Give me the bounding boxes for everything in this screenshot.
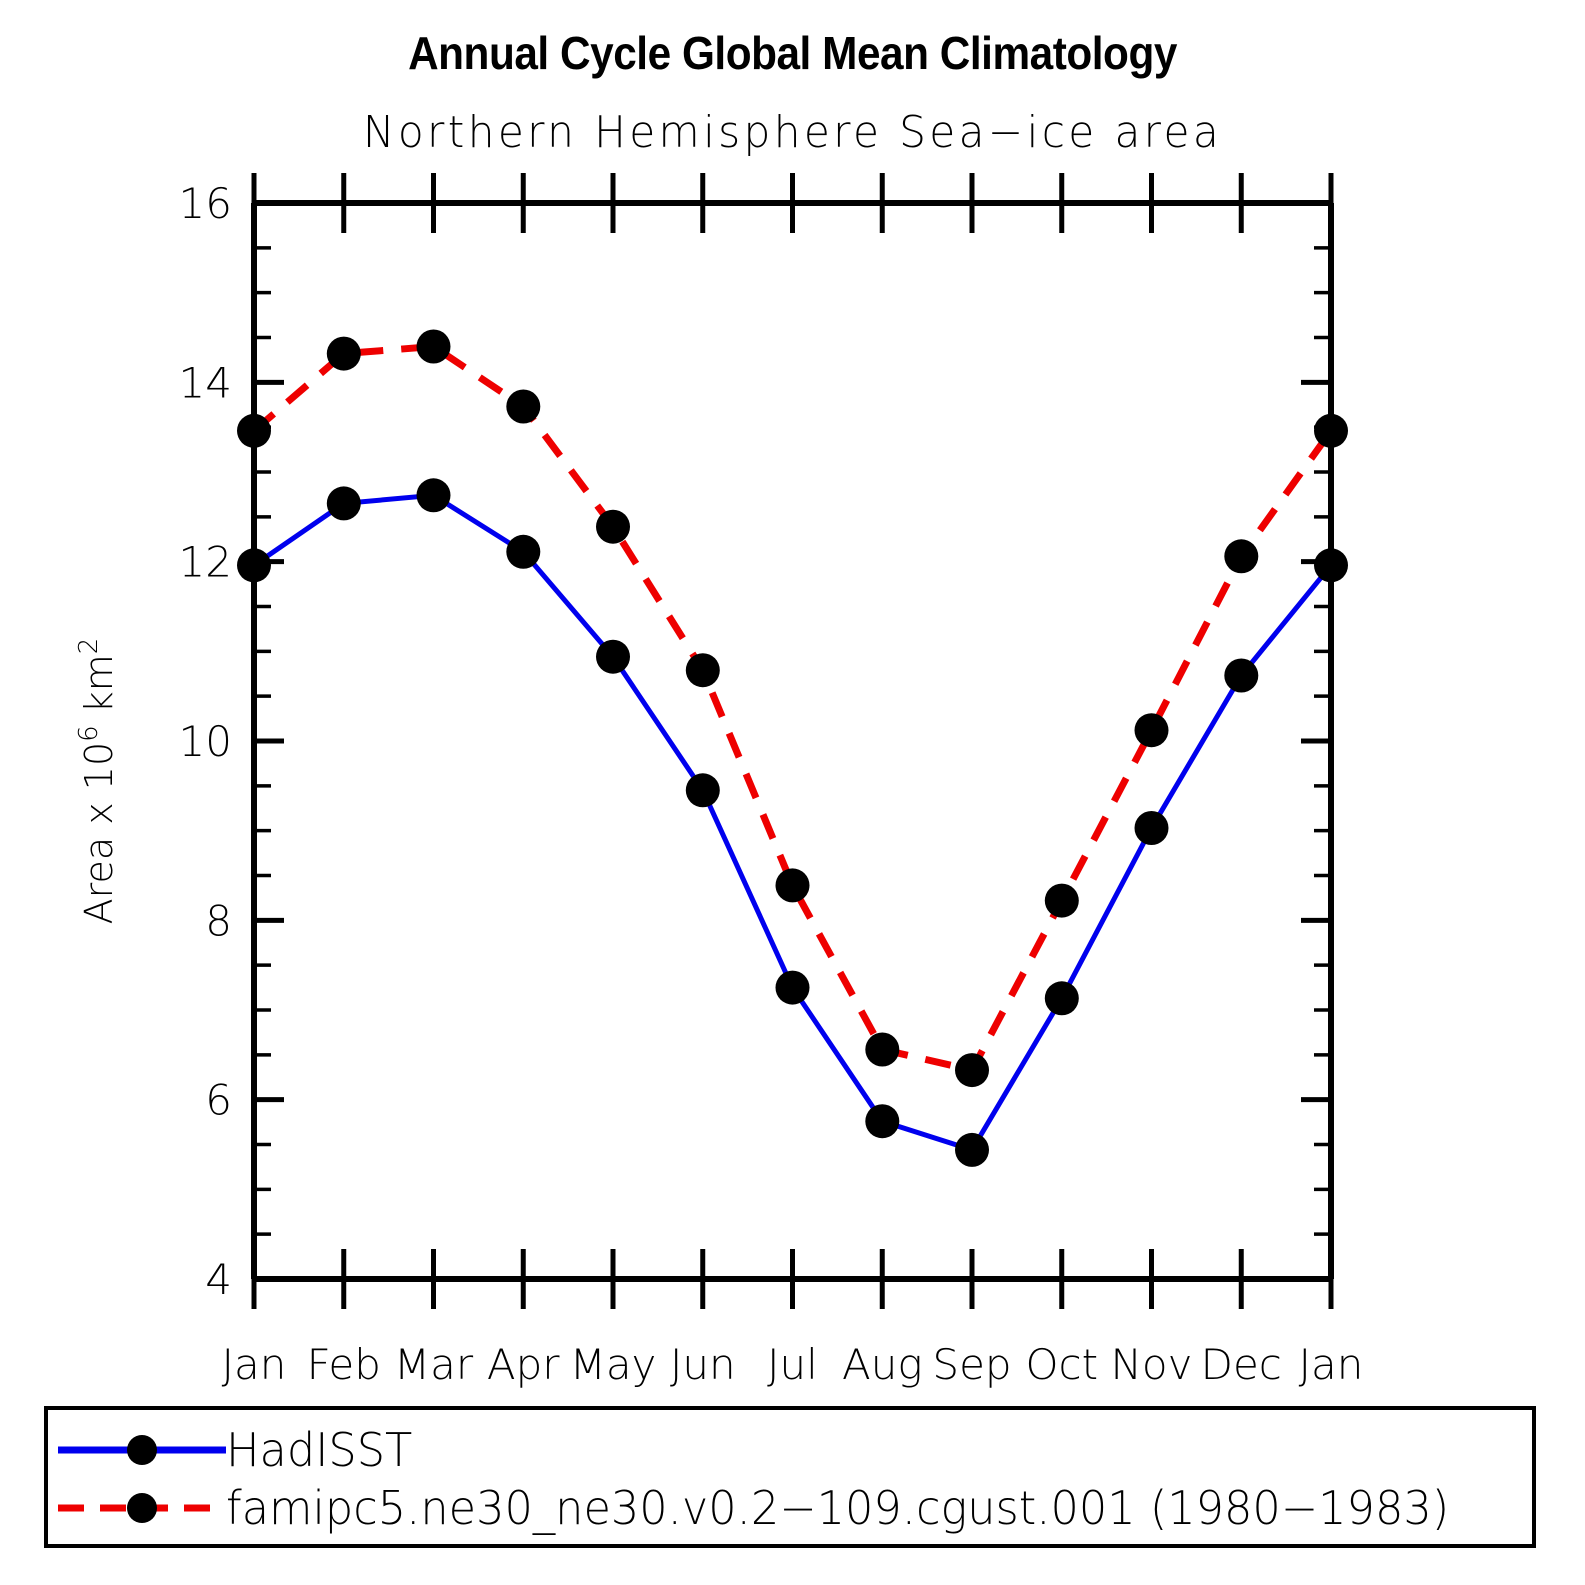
legend-label-hadisst: HadISST xyxy=(226,1427,412,1473)
data-point-series-2 xyxy=(327,337,361,371)
xtick-label: Apr xyxy=(487,1340,560,1389)
xtick-label: Aug xyxy=(842,1340,923,1389)
legend-label-famipc5: famipc5.ne30_ne30.v0.2−109.cgust.001 (19… xyxy=(226,1485,1449,1531)
ytick-label: 12 xyxy=(179,538,232,587)
legend-swatch-dashed-line xyxy=(58,1488,226,1528)
xtick-label: Feb xyxy=(307,1340,381,1389)
data-point-series-1 xyxy=(955,1133,989,1167)
data-point-series-2 xyxy=(1045,884,1079,918)
xtick-label: Sep xyxy=(932,1340,1011,1389)
data-point-series-1 xyxy=(237,548,271,582)
data-point-series-1 xyxy=(1045,981,1079,1015)
line-chart-plot: 46810121416JanFebMarAprMayJunJulAugSepOc… xyxy=(0,0,1585,1400)
xtick-label: Oct xyxy=(1025,1340,1098,1389)
data-point-series-1 xyxy=(865,1104,899,1138)
data-point-series-2 xyxy=(506,390,540,424)
data-point-series-1 xyxy=(686,773,720,807)
ytick-label: 6 xyxy=(205,1076,232,1125)
ytick-label: 14 xyxy=(179,358,232,407)
chart-page: Annual Cycle Global Mean Climatology Nor… xyxy=(0,0,1585,1585)
data-point-series-2 xyxy=(865,1033,899,1067)
ytick-label: 4 xyxy=(205,1255,232,1304)
data-point-series-1 xyxy=(506,535,540,569)
data-point-series-2 xyxy=(1314,414,1348,448)
ytick-label: 16 xyxy=(179,179,232,228)
chart-legend: HadISST famipc5.ne30_ne30.v0.2−109.cgust… xyxy=(44,1406,1536,1548)
legend-swatch-solid-line xyxy=(58,1430,226,1470)
ytick-label: 8 xyxy=(205,896,232,945)
xtick-label: Jan xyxy=(222,1340,287,1389)
data-point-series-2 xyxy=(1224,539,1258,573)
xtick-label: Dec xyxy=(1201,1340,1282,1389)
y-axis-label-text: Area x 106 km2 xyxy=(74,638,121,925)
data-point-series-1 xyxy=(1135,811,1169,845)
data-point-series-1 xyxy=(776,971,810,1005)
xtick-label: Mar xyxy=(394,1340,474,1389)
legend-entry-hadisst[interactable]: HadISST xyxy=(48,1420,1532,1480)
series-line-1 xyxy=(254,495,1331,1150)
xtick-label: Jan xyxy=(1299,1340,1364,1389)
data-point-series-2 xyxy=(776,868,810,902)
ytick-label: 10 xyxy=(179,717,232,766)
xtick-label: Jul xyxy=(767,1340,818,1389)
data-point-series-1 xyxy=(327,486,361,520)
data-point-series-1 xyxy=(1224,659,1258,693)
data-point-series-2 xyxy=(237,414,271,448)
data-point-series-2 xyxy=(417,330,451,364)
data-point-series-1 xyxy=(417,478,451,512)
legend-entry-famipc5[interactable]: famipc5.ne30_ne30.v0.2−109.cgust.001 (19… xyxy=(48,1478,1532,1538)
xtick-label: May xyxy=(570,1340,657,1389)
y-axis-label: Area x 106 km2 xyxy=(74,638,121,925)
series-line-2 xyxy=(254,347,1331,1071)
data-point-series-2 xyxy=(686,653,720,687)
data-point-series-2 xyxy=(955,1053,989,1087)
data-point-series-2 xyxy=(1135,713,1169,747)
data-point-series-1 xyxy=(596,640,630,674)
data-point-series-1 xyxy=(1314,548,1348,582)
data-point-series-2 xyxy=(596,510,630,544)
xtick-label: Nov xyxy=(1111,1340,1193,1389)
xtick-label: Jun xyxy=(670,1340,736,1389)
